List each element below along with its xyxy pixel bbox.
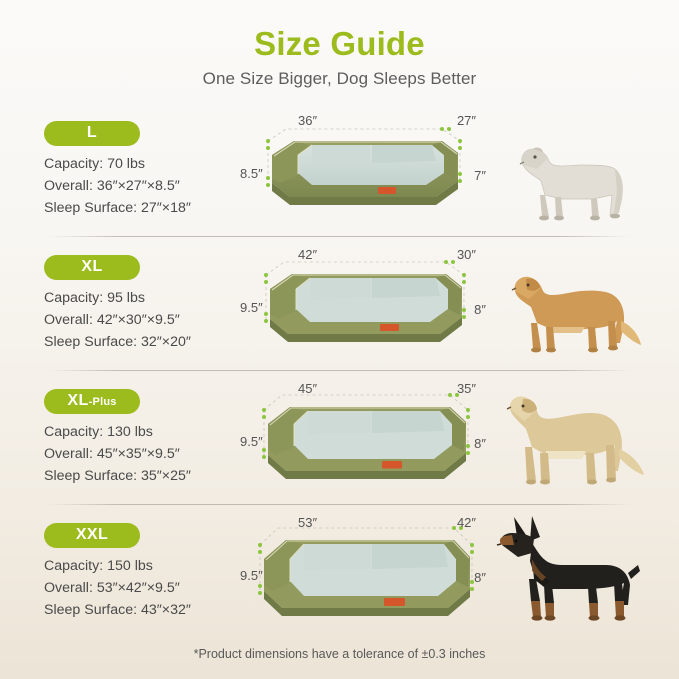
dim-height-front-label: 9.5″ [240,568,263,583]
spec-block: L Capacity: 70 lbs Overall: 36″×27″×8.5″… [44,121,240,219]
sleep-surface-text: Sleep Surface: 32″×20″ [44,331,240,353]
bed-diagram: 42″ 30″ 9.5″ 8″ [246,245,484,363]
spec-lines: Capacity: 95 lbs Overall: 42″×30″×9.5″ S… [44,287,240,353]
labrador-illustration [490,387,654,497]
size-guide-infographic: Size Guide One Size Bigger, Dog Sleeps B… [0,0,679,679]
dog-photo-doberman [484,513,659,631]
dim-width-label: 53″ [298,515,317,530]
overall-text: Overall: 45″×35″×9.5″ [44,443,240,465]
size-badge: L [44,121,140,146]
header: Size Guide One Size Bigger, Dog Sleeps B… [0,0,679,89]
dim-depth-label: 30″ [457,247,476,262]
size-badge: XL [44,255,140,280]
sleep-surface-text: Sleep Surface: 35″×25″ [44,465,240,487]
spec-lines: Capacity: 150 lbs Overall: 53″×42″×9.5″ … [44,555,240,621]
dim-height-back-label: 8″ [474,570,486,585]
dog-photo-bulldog [484,111,659,229]
size-badge: XL -Plus [44,389,140,414]
size-badge-label: XXL [76,527,108,543]
overall-text: Overall: 53″×42″×9.5″ [44,577,240,599]
bed-illustration [246,513,484,631]
spec-block: XL -Plus Capacity: 130 lbs Overall: 45″×… [44,389,240,487]
dim-height-back-label: 7″ [474,168,486,183]
capacity-text: Capacity: 70 lbs [44,153,240,175]
capacity-text: Capacity: 130 lbs [44,421,240,443]
dim-width-label: 45″ [298,381,317,396]
dim-height-back-label: 8″ [474,302,486,317]
bed-illustration [246,245,484,363]
dim-height-front-label: 8.5″ [240,166,263,181]
brand-tag [380,324,399,331]
golden-retriever-illustration [493,259,651,363]
dim-height-front-label: 9.5″ [240,434,263,449]
dog-photo-labrador [484,379,659,497]
dim-width-label: 42″ [298,247,317,262]
size-badge-label: XL [81,259,102,275]
sleep-surface-text: Sleep Surface: 43″×32″ [44,599,240,621]
footer-note: *Product dimensions have a tolerance of … [0,638,679,661]
capacity-text: Capacity: 95 lbs [44,287,240,309]
spec-block: XXL Capacity: 150 lbs Overall: 53″×42″×9… [44,523,240,621]
bulldog-illustration [497,129,647,229]
brand-tag [382,461,402,469]
brand-tag [384,598,405,606]
overall-text: Overall: 36″×27″×8.5″ [44,175,240,197]
overall-text: Overall: 42″×30″×9.5″ [44,309,240,331]
dim-depth-label: 42″ [457,515,476,530]
spec-lines: Capacity: 130 lbs Overall: 45″×35″×9.5″ … [44,421,240,487]
size-badge: XXL [44,523,140,548]
dim-depth-label: 35″ [457,381,476,396]
spec-lines: Capacity: 70 lbs Overall: 36″×27″×8.5″ S… [44,153,240,219]
bed-illustration [246,379,484,497]
bed-diagram: 36″ 27″ 8.5″ 7″ [246,111,484,229]
bed-diagram: 53″ 42″ 9.5″ 8″ [246,513,484,631]
size-badge-label: L [87,125,97,141]
dim-height-back-label: 8″ [474,436,486,451]
sleep-surface-text: Sleep Surface: 27″×18″ [44,197,240,219]
brand-tag [378,187,396,194]
spec-block: XL Capacity: 95 lbs Overall: 42″×30″×9.5… [44,255,240,353]
page-title: Size Guide [0,26,679,62]
dim-width-label: 36″ [298,113,317,128]
doberman-illustration [488,513,656,631]
size-row-xl: XL Capacity: 95 lbs Overall: 42″×30″×9.5… [0,237,679,370]
dog-photo-golden-retriever [484,245,659,363]
size-badge-label: XL [67,393,88,409]
size-badge-suffix: -Plus [89,397,117,408]
dim-height-front-label: 9.5″ [240,300,263,315]
dim-depth-label: 27″ [457,113,476,128]
size-row-l: L Capacity: 70 lbs Overall: 36″×27″×8.5″… [0,103,679,236]
bed-diagram: 45″ 35″ 9.5″ 8″ [246,379,484,497]
page-subtitle: One Size Bigger, Dog Sleeps Better [0,69,679,89]
size-rows: L Capacity: 70 lbs Overall: 36″×27″×8.5″… [0,103,679,638]
size-row-xl-plus: XL -Plus Capacity: 130 lbs Overall: 45″×… [0,371,679,504]
capacity-text: Capacity: 150 lbs [44,555,240,577]
bed-illustration [246,111,484,229]
size-row-xxl: XXL Capacity: 150 lbs Overall: 53″×42″×9… [0,505,679,638]
